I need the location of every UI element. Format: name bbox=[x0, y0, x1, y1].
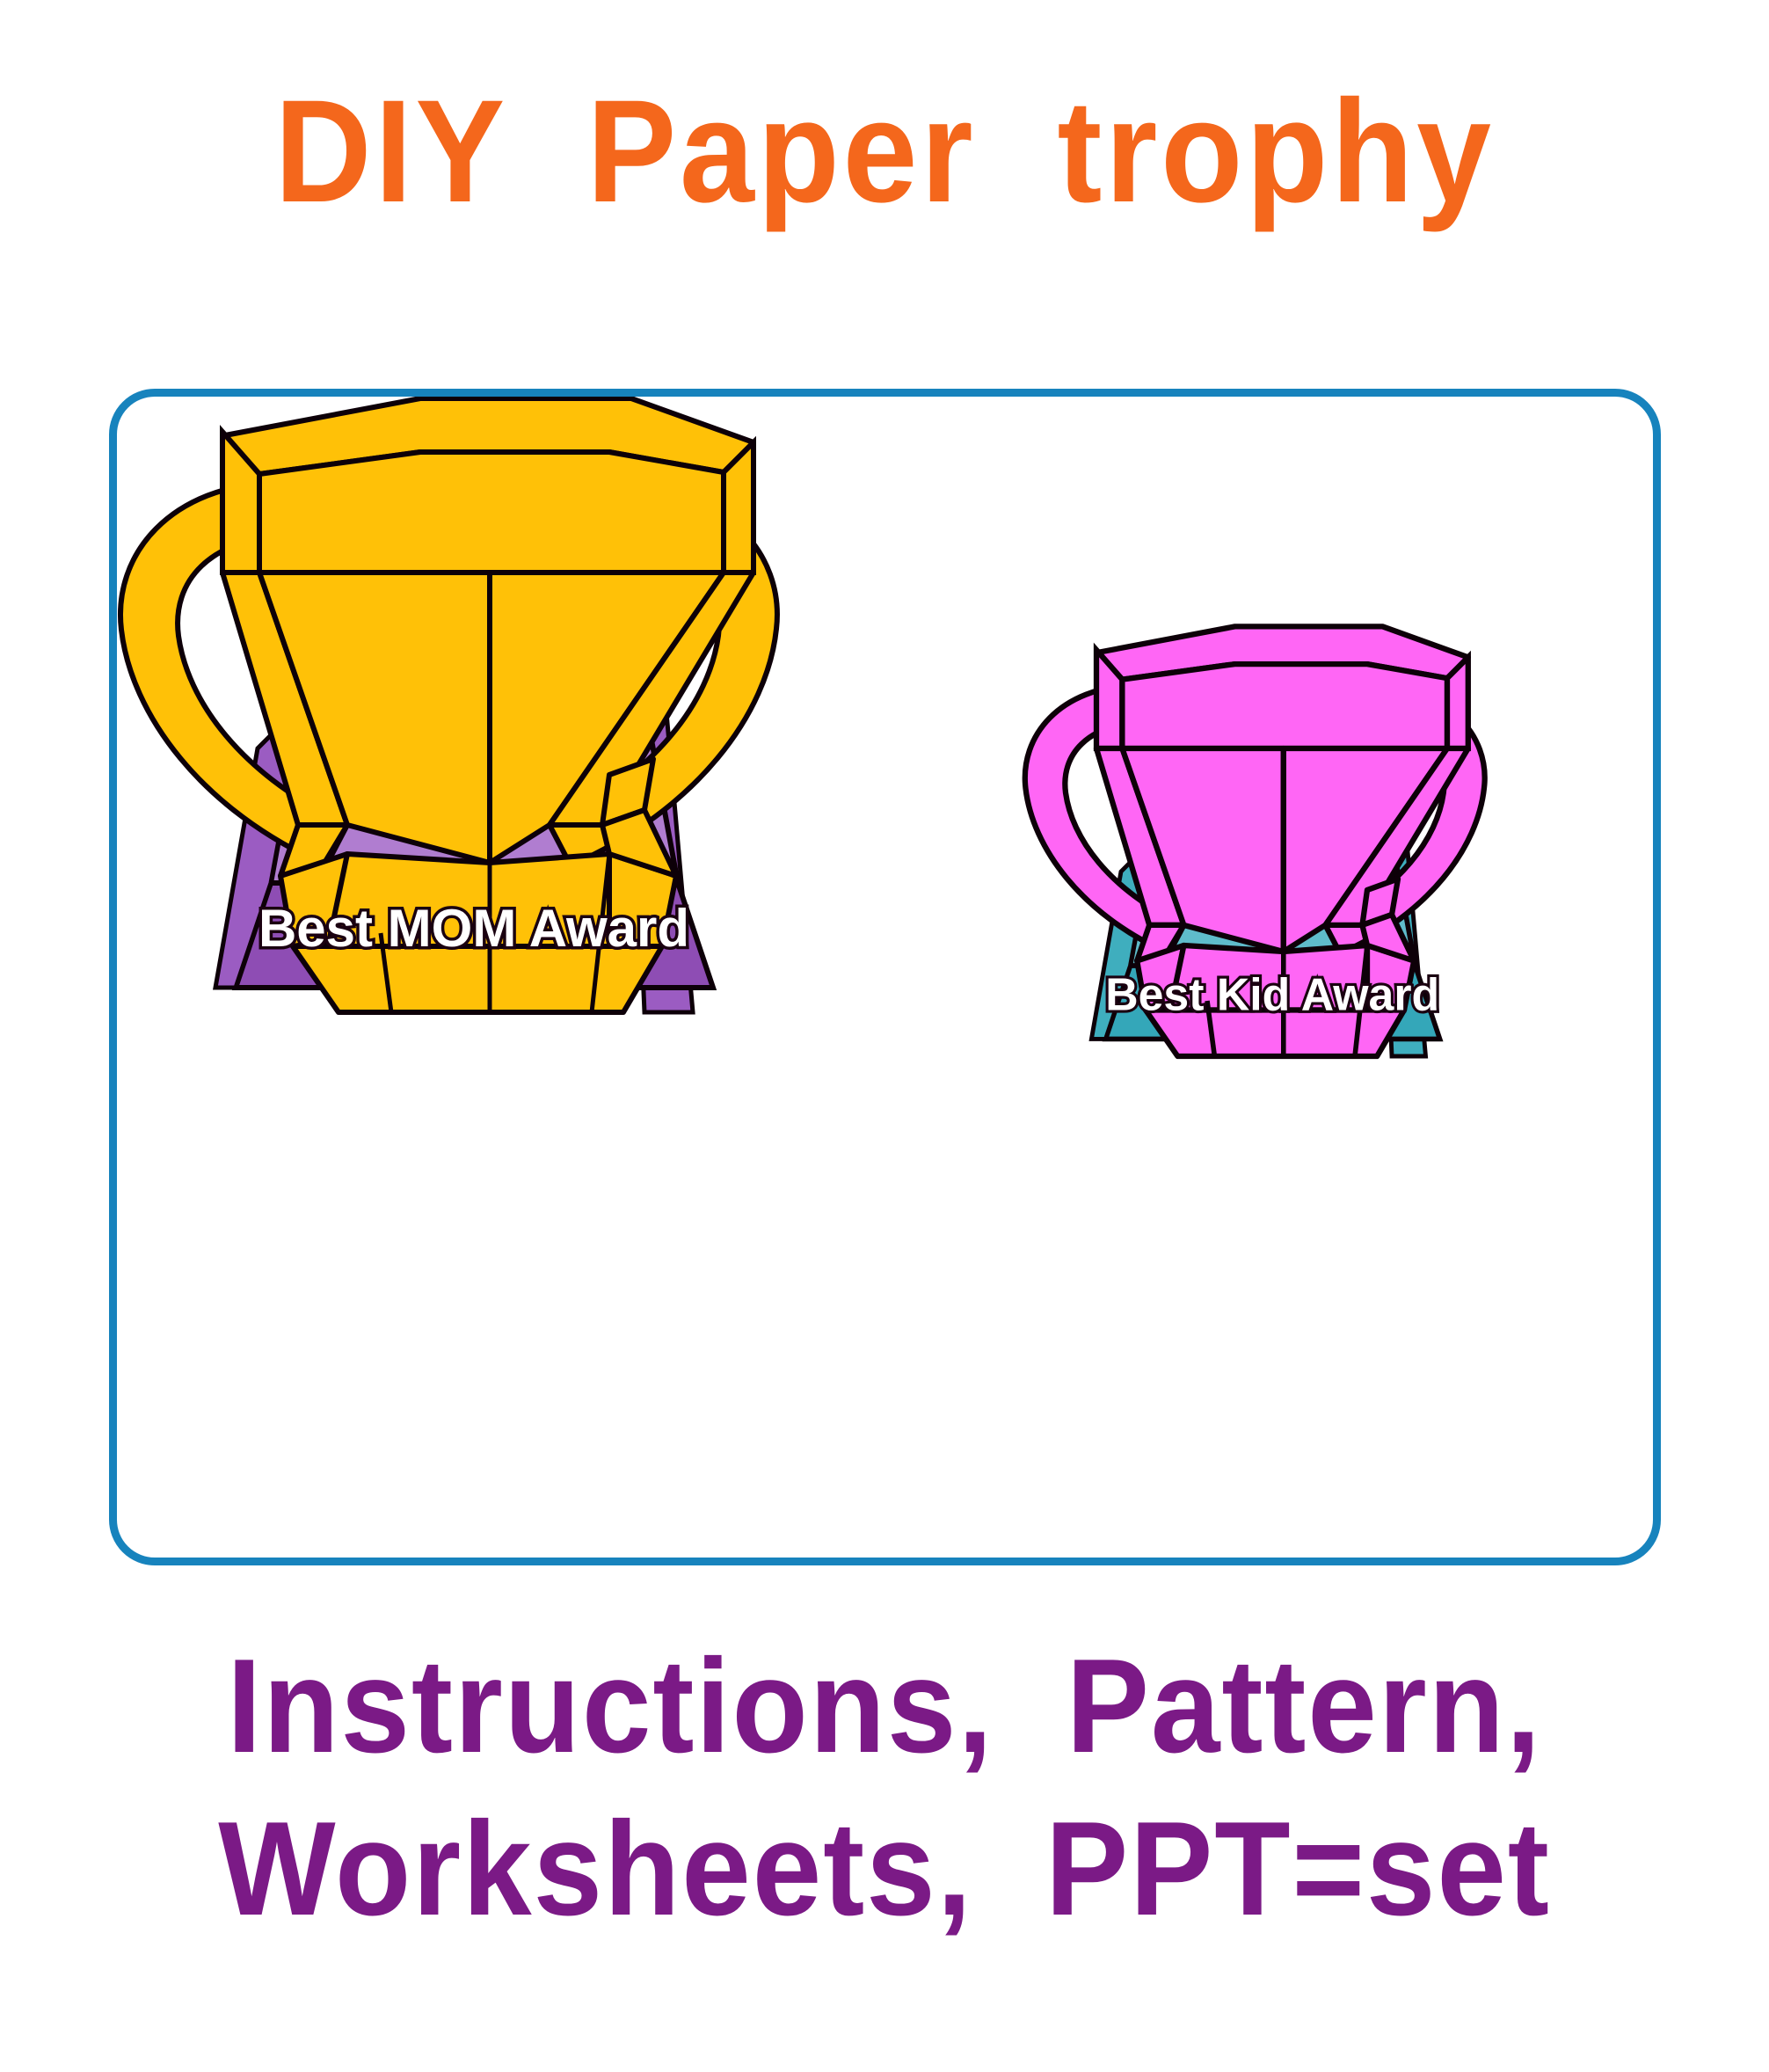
footer-block: Instructions, Pattern, Worksheets, PPT=s… bbox=[0, 1625, 1769, 1952]
footer-line-2: Worksheets, PPT=set bbox=[62, 1788, 1707, 1951]
title-bar: DIY Paper trophy bbox=[0, 76, 1769, 229]
kid-cup-rim-band-front bbox=[1122, 664, 1447, 748]
cup-rim-band-front bbox=[259, 452, 724, 573]
mom-award-label: Best MOM Award bbox=[258, 899, 689, 958]
mom-trophy: Best MOM Award bbox=[120, 398, 777, 1012]
footer-line-1: Instructions, Pattern, bbox=[62, 1625, 1707, 1788]
kid-award-label: Best Kid Award bbox=[1105, 969, 1439, 1020]
page-title: DIY Paper trophy bbox=[274, 76, 1494, 229]
illustration-panel: Best MOM Award bbox=[109, 389, 1661, 1565]
kid-trophy: Best Kid Award bbox=[1025, 626, 1485, 1056]
trophy-illustration: Best MOM Award bbox=[117, 397, 1669, 1573]
